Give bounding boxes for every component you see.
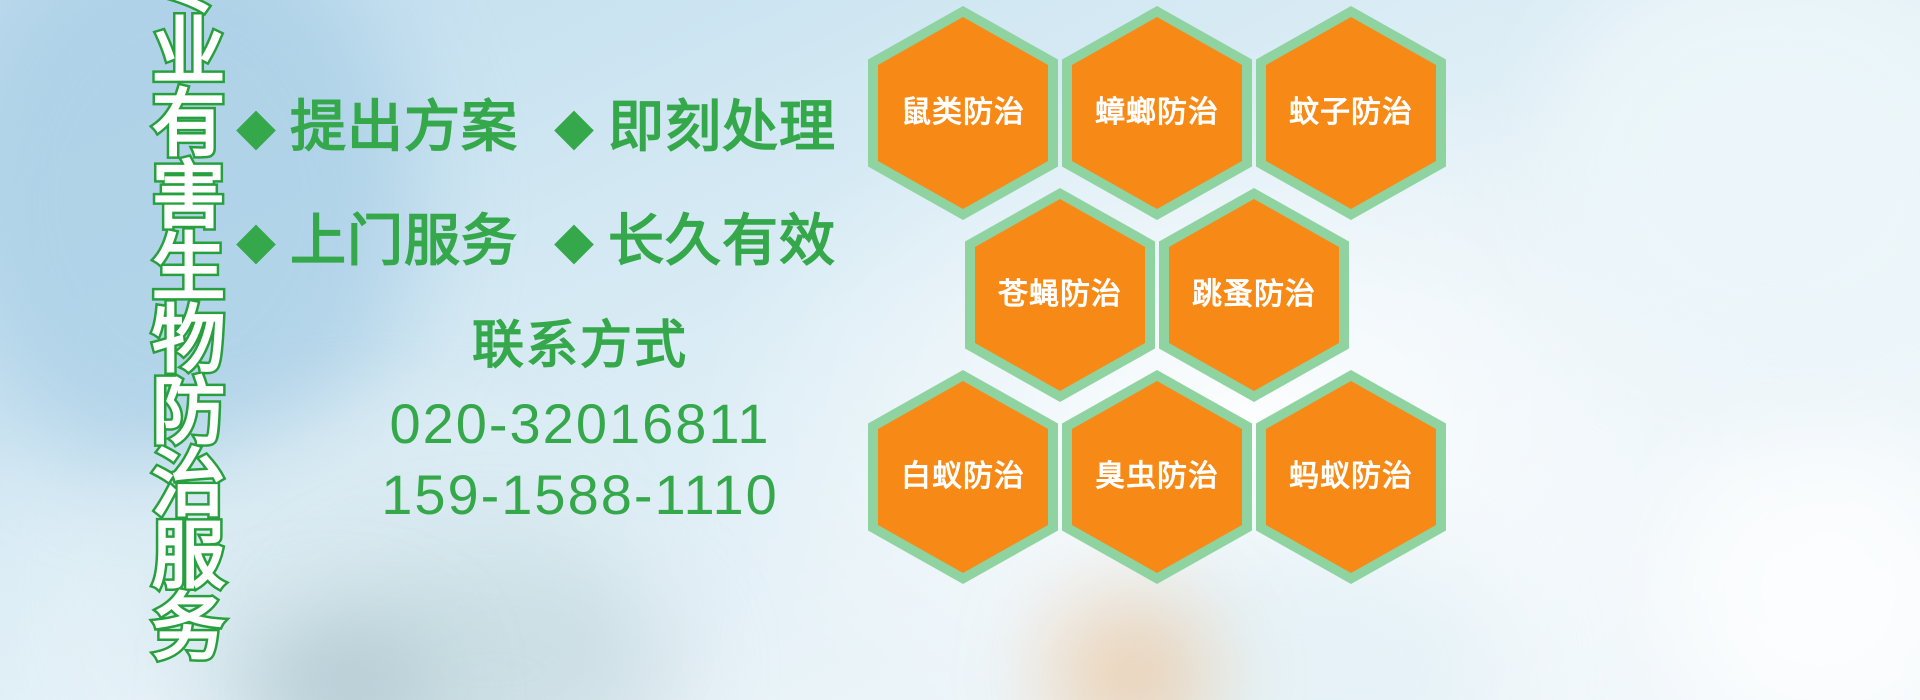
hex-label: 跳蚤防治 [1192,280,1316,310]
background-blur-blob [300,560,680,700]
diamond-bullet-icon: ◆ [236,215,276,267]
hex-service-flea[interactable]: 跳蚤防治 [1159,188,1349,402]
diamond-bullet-icon: ◆ [236,101,276,153]
hex-inner: 苍蝇防治 [975,199,1145,391]
slogan-row: ◆ 上门服务 ◆ 长久有效 [236,196,876,286]
hex-label: 苍蝇防治 [998,280,1122,310]
hex-service-fly[interactable]: 苍蝇防治 [965,188,1155,402]
hex-label: 蟑螂防治 [1095,98,1219,128]
hex-service-mosquito[interactable]: 蚊子防治 [1256,6,1446,220]
hex-inner: 蚂蚁防治 [1266,381,1436,573]
hex-label: 白蚁防治 [901,462,1025,492]
hex-inner: 蟑螂防治 [1072,17,1242,209]
slogan-item-propose-plan: 提出方案 [290,99,518,155]
vertical-headline: 专业有害生物防治服务 [96,14,220,586]
slogan-item-immediate-handling: 即刻处理 [608,99,836,155]
hex-label: 鼠类防治 [901,98,1025,128]
hex-label: 臭虫防治 [1095,462,1219,492]
slogan-item-onsite-service: 上门服务 [290,213,518,269]
background-blur-blob [230,620,430,700]
hex-inner: 蚊子防治 [1266,17,1436,209]
hex-label: 蚂蚁防治 [1289,462,1413,492]
hex-inner: 白蚁防治 [878,381,1048,573]
contact-phone-landline[interactable]: 020-32016811 [300,389,860,460]
hex-service-bedbug[interactable]: 臭虫防治 [1062,370,1252,584]
background-blur-blob [1660,430,1920,700]
slogan-item-long-lasting: 长久有效 [608,213,836,269]
slogan-list: ◆ 提出方案 ◆ 即刻处理 ◆ 上门服务 ◆ 长久有效 [236,82,876,286]
hex-label: 蚊子防治 [1289,98,1413,128]
hex-inner: 臭虫防治 [1072,381,1242,573]
diamond-bullet-icon: ◆ [554,101,594,153]
contact-block: 联系方式 020-32016811 159-1588-1110 [300,318,860,530]
hex-service-cockroach[interactable]: 蟑螂防治 [1062,6,1252,220]
background-blur-blob [1540,0,1920,380]
hex-service-termite[interactable]: 白蚁防治 [868,370,1058,584]
slogan-row: ◆ 提出方案 ◆ 即刻处理 [236,82,876,172]
contact-phone-mobile[interactable]: 159-1588-1110 [300,460,860,531]
background-blur-blob [1050,600,1210,700]
contact-title: 联系方式 [300,318,860,375]
hex-service-rodent[interactable]: 鼠类防治 [868,6,1058,220]
hex-inner: 跳蚤防治 [1169,199,1339,391]
pest-control-banner: 专业有害生物防治服务 ◆ 提出方案 ◆ 即刻处理 ◆ 上门服务 ◆ 长久有效 联… [0,0,1920,700]
service-honeycomb: 鼠类防治 蟑螂防治 蚊子防治 苍蝇防治 跳蚤防治 白蚁防治 [860,0,1460,570]
hex-service-ant[interactable]: 蚂蚁防治 [1256,370,1446,584]
diamond-bullet-icon: ◆ [554,215,594,267]
hex-inner: 鼠类防治 [878,17,1048,209]
